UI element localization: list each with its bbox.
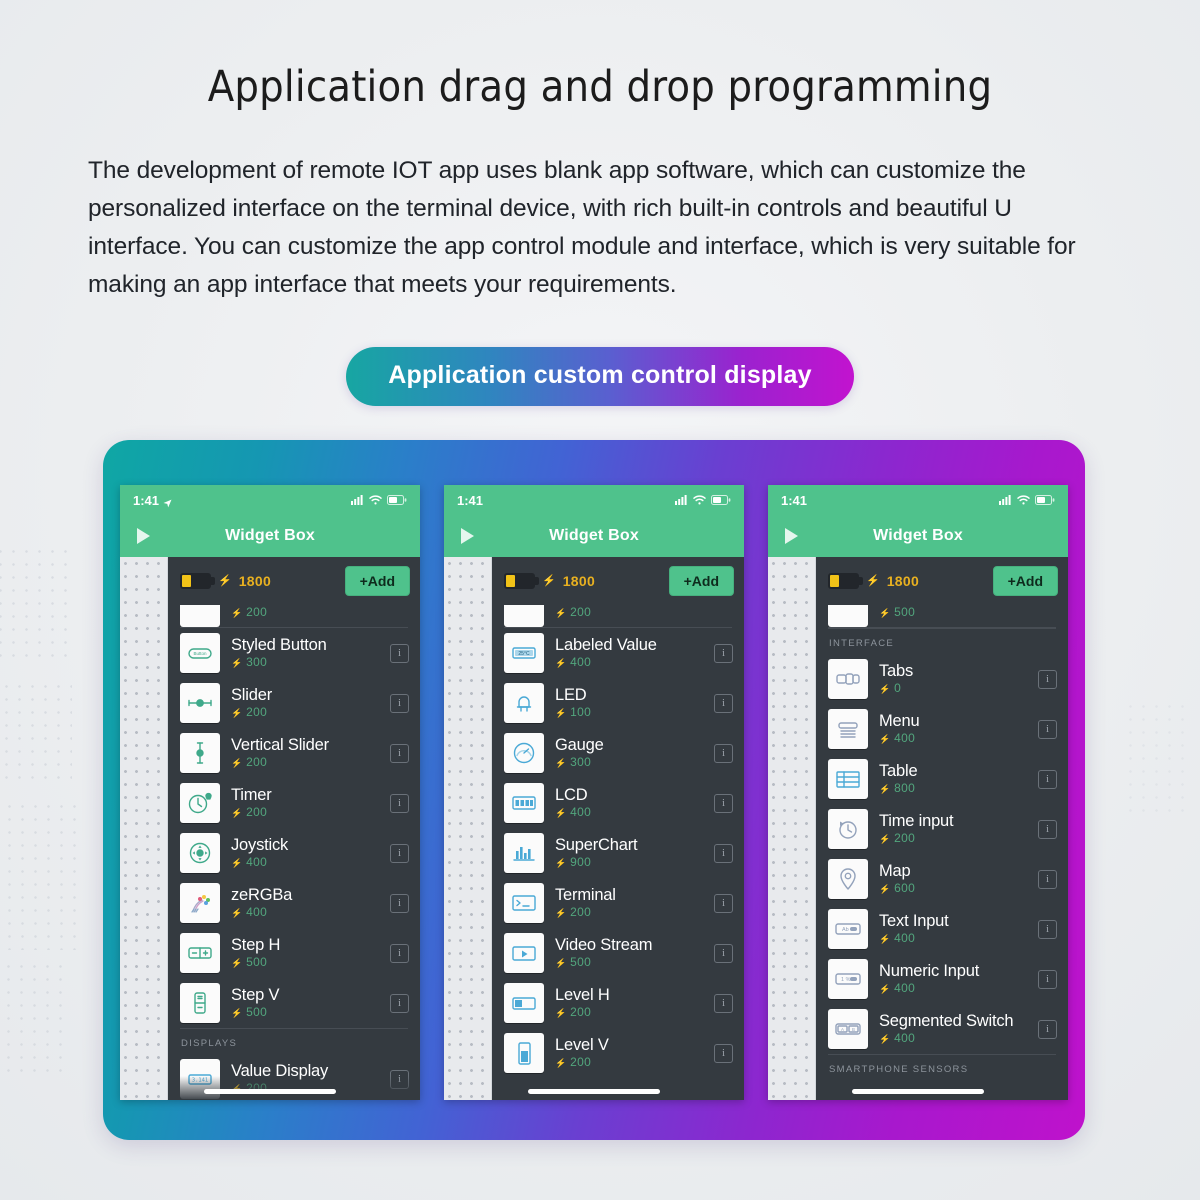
widget-row-text: Styled Button⚡ 300: [231, 635, 379, 671]
svg-text:B: B: [852, 1027, 855, 1032]
step-v-icon: [180, 983, 220, 1023]
widget-name: zeRGBa: [231, 885, 379, 905]
energy-bolt-icon: ⚡: [231, 958, 243, 968]
widget-row-text: Vertical Slider⚡ 200: [231, 735, 379, 771]
location-arrow-icon: [163, 496, 172, 505]
widget-row-text: Step H⚡ 500: [231, 935, 379, 971]
widget-row[interactable]: Level V⚡ 200i: [492, 1028, 744, 1078]
widget-row-text: zeRGBa⚡ 400: [231, 885, 379, 921]
page-title: Application drag and drop programming: [0, 62, 1200, 112]
widget-name: Slider: [231, 685, 379, 705]
widget-name: LCD: [555, 785, 703, 805]
widget-info-button[interactable]: i: [714, 994, 733, 1013]
widget-row[interactable]: Terminal⚡ 200i: [492, 878, 744, 928]
widget-name: Vertical Slider: [231, 735, 379, 755]
widget-row-text: Terminal⚡ 200: [555, 885, 703, 921]
widget-info-button[interactable]: i: [1038, 720, 1057, 739]
status-bar: 1:41: [444, 485, 744, 515]
wifi-icon: [693, 493, 706, 508]
widget-info-button[interactable]: i: [390, 744, 409, 763]
widget-row-text: Labeled Value⚡ 400: [555, 635, 703, 671]
widget-thumb-partial: [504, 605, 544, 627]
widget-row[interactable]: Step H⚡ 500i: [168, 928, 420, 978]
widget-cost: ⚡ 200: [555, 1055, 703, 1071]
widget-row-text: Joystick⚡ 400: [231, 835, 379, 871]
status-time: 1:41: [133, 493, 172, 508]
widget-row-text: Text Input⚡ 400: [879, 911, 1027, 947]
svg-text:25°C: 25°C: [518, 651, 530, 657]
widget-cost: ⚡ 400: [555, 655, 703, 671]
phone-mockup-2: 1:41Widget Box⚡1800+Add⚡ 20025°CLabeled …: [444, 485, 744, 1100]
widget-info-button[interactable]: i: [1038, 920, 1057, 939]
widget-name: LED: [555, 685, 703, 705]
widget-row[interactable]: Timer⚡ 200i: [168, 778, 420, 828]
widget-row-text: Level V⚡ 200: [555, 1035, 703, 1071]
phone-gallery: 1:41Widget Box⚡1800+Add⚡ 200ButtonStyled…: [103, 485, 1085, 1100]
widget-row-text: Timer⚡ 200: [231, 785, 379, 821]
widget-name: Gauge: [555, 735, 703, 755]
energy-bolt-icon: ⚡: [879, 608, 891, 618]
level-h-icon: [504, 983, 544, 1023]
phone-mockup-1: 1:41Widget Box⚡1800+Add⚡ 200ButtonStyled…: [120, 485, 420, 1100]
cellular-signal-icon: [675, 493, 688, 508]
widget-cost: ⚡ 200: [231, 755, 379, 771]
energy-bolt-icon: ⚡: [231, 608, 243, 618]
widget-name: SuperChart: [555, 835, 703, 855]
widget-row-text: Level H⚡ 200: [555, 985, 703, 1021]
level-v-icon: [504, 1033, 544, 1073]
widget-cost: ⚡ 400: [555, 805, 703, 821]
widget-row-text: Segmented Switch⚡ 400: [879, 1011, 1027, 1047]
widget-cost: ⚡ 500: [879, 605, 1057, 621]
energy-bolt-icon: ⚡: [555, 1058, 567, 1068]
list-bottom-fade: [492, 1076, 744, 1100]
energy-bolt-icon: ⚡: [879, 734, 891, 744]
widget-cost: ⚡ 400: [231, 905, 379, 921]
widget-name: Value Display: [231, 1061, 379, 1081]
widget-cost: ⚡ 400: [879, 731, 1027, 747]
energy-bolt-icon: ⚡: [555, 758, 567, 768]
widget-row[interactable]: ButtonStyled Button⚡ 300i: [168, 628, 420, 678]
widget-cost-value: 500: [570, 955, 591, 969]
widget-cost: ⚡ 400: [231, 855, 379, 871]
widget-name: Labeled Value: [555, 635, 703, 655]
widget-name: Level H: [555, 985, 703, 1005]
widget-cost-value: 400: [570, 805, 591, 819]
widget-cost-value: 400: [894, 931, 915, 945]
widget-info-button[interactable]: i: [714, 694, 733, 713]
energy-bolt-icon: ⚡: [231, 708, 243, 718]
energy-bolt-icon: ⚡: [555, 908, 567, 918]
widget-row[interactable]: SuperChart⚡ 900i: [492, 828, 744, 878]
background-dot-pattern: [0, 680, 72, 780]
energy-battery-icon: [828, 573, 859, 589]
widget-name: Text Input: [879, 911, 1027, 931]
widget-cost: ⚡ 300: [555, 755, 703, 771]
widget-row-text: Tabs⚡ 0: [879, 661, 1027, 697]
energy-battery-icon: [504, 573, 535, 589]
widget-thumb-partial: [828, 605, 868, 627]
widget-row-text: ⚡ 200: [555, 605, 733, 621]
widget-cost-value: 200: [570, 1005, 591, 1019]
gauge-icon: [504, 733, 544, 773]
add-energy-button[interactable]: +Add: [669, 566, 734, 596]
dotted-rail: [120, 557, 168, 1100]
energy-bolt-icon: ⚡: [879, 884, 891, 894]
widget-name: Menu: [879, 711, 1027, 731]
widget-name: Terminal: [555, 885, 703, 905]
widget-row-text: Step V⚡ 500: [231, 985, 379, 1021]
lcd-icon: [504, 783, 544, 823]
energy-bolt-icon: ⚡: [218, 576, 232, 587]
widget-info-button[interactable]: i: [714, 894, 733, 913]
wifi-icon: [369, 493, 382, 508]
energy-bolt-icon: ⚡: [555, 708, 567, 718]
energy-bolt-icon: ⚡: [866, 576, 880, 587]
add-energy-button[interactable]: +Add: [345, 566, 410, 596]
widget-cost-value: 200: [246, 805, 267, 819]
energy-bolt-icon: ⚡: [555, 808, 567, 818]
widget-row-partial[interactable]: ⚡ 200: [168, 605, 420, 627]
nav-title: Widget Box: [768, 527, 1068, 545]
widget-cost: ⚡ 200: [231, 605, 409, 621]
widget-cost: ⚡ 400: [879, 981, 1027, 997]
energy-bolt-icon: ⚡: [555, 858, 567, 868]
widget-row-text: Map⚡ 600: [879, 861, 1027, 897]
widget-cost-value: 200: [246, 705, 267, 719]
widget-cost: ⚡ 400: [879, 931, 1027, 947]
widget-cost: ⚡ 900: [555, 855, 703, 871]
home-indicator: [204, 1089, 336, 1094]
map-icon: [828, 859, 868, 899]
energy-bolt-icon: ⚡: [231, 858, 243, 868]
widget-row-partial[interactable]: ⚡ 200: [492, 605, 744, 627]
widget-row-text: Table⚡ 800: [879, 761, 1027, 797]
energy-bolt-icon: ⚡: [879, 684, 891, 694]
nav-title: Widget Box: [444, 527, 744, 545]
widget-info-button[interactable]: i: [1038, 870, 1057, 889]
widget-cost: ⚡ 200: [555, 605, 733, 621]
widget-row-text: Slider⚡ 200: [231, 685, 379, 721]
widget-cost: ⚡ 400: [879, 1031, 1027, 1047]
vertical-slider-icon: [180, 733, 220, 773]
energy-bolt-icon: ⚡: [542, 576, 556, 587]
widget-row[interactable]: LED⚡ 100i: [492, 678, 744, 728]
widget-row[interactable]: 1 %Numeric Input⚡ 400i: [816, 954, 1068, 1004]
widget-name: Step H: [231, 935, 379, 955]
timer-icon: [180, 783, 220, 823]
energy-bolt-icon: ⚡: [879, 784, 891, 794]
widget-row[interactable]: LCD⚡ 400i: [492, 778, 744, 828]
widget-cost-value: 400: [246, 905, 267, 919]
widget-row-text: Gauge⚡ 300: [555, 735, 703, 771]
widget-row-text: SuperChart⚡ 900: [555, 835, 703, 871]
showcase-card: 1:41Widget Box⚡1800+Add⚡ 200ButtonStyled…: [103, 440, 1085, 1140]
nav-bar: Widget Box: [120, 515, 420, 557]
intro-paragraph: The development of remote IOT app uses b…: [88, 152, 1114, 304]
widget-list: INTERFACETabs⚡ 0iMenu⚡ 400iTable⚡ 800iTi…: [816, 628, 1068, 1080]
widget-cost-value: 100: [570, 705, 591, 719]
widget-row-partial[interactable]: ⚡ 500: [816, 605, 1068, 627]
text-input-icon: Ab: [828, 909, 868, 949]
menu-icon: [828, 709, 868, 749]
widget-cost: ⚡ 500: [231, 1005, 379, 1021]
nav-title: Widget Box: [120, 527, 420, 545]
section-label: INTERFACE: [816, 629, 1068, 654]
widget-row-text: ⚡ 200: [231, 605, 409, 621]
joystick-icon: [180, 833, 220, 873]
widget-info-button[interactable]: i: [1038, 770, 1057, 789]
background-dot-pattern: [0, 800, 76, 950]
widget-name: Time input: [879, 811, 1027, 831]
superchart-icon: [504, 833, 544, 873]
step-h-icon: [180, 933, 220, 973]
status-indicators: [351, 493, 407, 508]
widget-cost-value: 300: [570, 755, 591, 769]
widget-box-screen: ⚡1800+Add⚡ 500INTERFACETabs⚡ 0iMenu⚡ 400…: [816, 557, 1068, 1100]
background-dot-pattern: [0, 545, 72, 665]
widget-box-screen: ⚡1800+Add⚡ 200ButtonStyled Button⚡ 300iS…: [168, 557, 420, 1100]
widget-cost-value: 900: [570, 855, 591, 869]
widget-cost-value: 300: [246, 655, 267, 669]
widget-cost-value: 200: [570, 1055, 591, 1069]
status-bar: 1:41: [120, 485, 420, 515]
cellular-signal-icon: [999, 493, 1012, 508]
widget-info-button[interactable]: i: [390, 694, 409, 713]
energy-bolt-icon: ⚡: [555, 658, 567, 668]
nav-bar: Widget Box: [444, 515, 744, 557]
widget-name: Map: [879, 861, 1027, 881]
nav-bar: Widget Box: [768, 515, 1068, 557]
widget-cost-value: 500: [246, 1005, 267, 1019]
widget-info-button[interactable]: i: [1038, 970, 1057, 989]
styled-button-icon: Button: [180, 633, 220, 673]
svg-text:1 %: 1 %: [841, 977, 851, 983]
energy-bolt-icon: ⚡: [879, 834, 891, 844]
widget-cost-value: 200: [570, 905, 591, 919]
widget-row[interactable]: Slider⚡ 200i: [168, 678, 420, 728]
svg-text:Ab: Ab: [842, 927, 849, 933]
widget-name: Timer: [231, 785, 379, 805]
widget-cost-value: 400: [894, 981, 915, 995]
widget-row[interactable]: zeRGBa⚡ 400i: [168, 878, 420, 928]
status-time: 1:41: [457, 493, 483, 508]
widget-row[interactable]: Map⚡ 600i: [816, 854, 1068, 904]
widget-row[interactable]: Step V⚡ 500i: [168, 978, 420, 1028]
phone-mockup-3: 1:41Widget Box⚡1800+Add⚡ 500INTERFACETab…: [768, 485, 1068, 1100]
widget-info-button[interactable]: i: [390, 644, 409, 663]
table-icon: [828, 759, 868, 799]
widget-name: Styled Button: [231, 635, 379, 655]
widget-thumb-partial: [180, 605, 220, 627]
widget-cost-value: 400: [246, 855, 267, 869]
cellular-signal-icon: [351, 493, 364, 508]
widget-cost: ⚡ 0: [879, 681, 1027, 697]
widget-cost: ⚡ 200: [555, 905, 703, 921]
section-banner: Application custom control display: [0, 347, 1200, 406]
widget-cost-value: 200: [246, 755, 267, 769]
widget-box-screen: ⚡1800+Add⚡ 20025°CLabeled Value⚡ 400iLED…: [492, 557, 744, 1100]
widget-row[interactable]: Gauge⚡ 300i: [492, 728, 744, 778]
widget-info-button[interactable]: i: [1038, 1020, 1057, 1039]
widget-row-text: ⚡ 500: [879, 605, 1057, 621]
widget-cost-value: 200: [894, 831, 915, 845]
energy-bolt-icon: ⚡: [879, 1034, 891, 1044]
widget-row[interactable]: Menu⚡ 400i: [816, 704, 1068, 754]
widget-cost: ⚡ 200: [231, 705, 379, 721]
widget-info-button[interactable]: i: [714, 844, 733, 863]
energy-bolt-icon: ⚡: [231, 808, 243, 818]
energy-bolt-icon: ⚡: [555, 958, 567, 968]
widget-row-text: LCD⚡ 400: [555, 785, 703, 821]
widget-cost: ⚡ 100: [555, 705, 703, 721]
tabs-icon: [828, 659, 868, 699]
widget-cost-value: 200: [246, 605, 267, 619]
zergba-icon: [180, 883, 220, 923]
page-root: Application drag and drop programming Th…: [0, 0, 1200, 1200]
intro-paragraph-text: The development of remote IOT app uses b…: [88, 152, 1114, 304]
background-dot-pattern: [2, 960, 62, 1080]
energy-bolt-icon: ⚡: [231, 908, 243, 918]
labeled-value-icon: 25°C: [504, 633, 544, 673]
status-bar: 1:41: [768, 485, 1068, 515]
widget-name: Numeric Input: [879, 961, 1027, 981]
section-label: DISPLAYS: [168, 1029, 420, 1054]
status-indicators: [999, 493, 1055, 508]
svg-text:A: A: [841, 1027, 844, 1032]
widget-cost: ⚡ 800: [879, 781, 1027, 797]
widget-cost-value: 400: [570, 655, 591, 669]
widget-cost: ⚡ 500: [555, 955, 703, 971]
widget-row-text: Menu⚡ 400: [879, 711, 1027, 747]
widget-info-button[interactable]: i: [714, 644, 733, 663]
widget-name: Segmented Switch: [879, 1011, 1027, 1031]
energy-value: 1800: [887, 573, 919, 589]
widget-list: 25°CLabeled Value⚡ 400iLED⚡ 100iGauge⚡ 3…: [492, 628, 744, 1078]
widget-row[interactable]: Level H⚡ 200i: [492, 978, 744, 1028]
widget-row[interactable]: Video Stream⚡ 500i: [492, 928, 744, 978]
dotted-rail: [768, 557, 816, 1100]
time-input-icon: [828, 809, 868, 849]
widget-cost-value: 400: [894, 731, 915, 745]
widget-info-button[interactable]: i: [1038, 820, 1057, 839]
widget-cost-value: 500: [894, 605, 915, 619]
widget-name: Video Stream: [555, 935, 703, 955]
energy-bolt-icon: ⚡: [555, 1008, 567, 1018]
energy-bolt-icon: ⚡: [231, 758, 243, 768]
energy-bolt-icon: ⚡: [555, 608, 567, 618]
energy-value: 1800: [563, 573, 595, 589]
footer-section-label: SMARTPHONE SENSORS: [816, 1055, 1068, 1080]
widget-row[interactable]: 25°CLabeled Value⚡ 400i: [492, 628, 744, 678]
widget-row[interactable]: Table⚡ 800i: [816, 754, 1068, 804]
home-indicator: [528, 1089, 660, 1094]
energy-header: ⚡1800+Add: [492, 557, 744, 605]
widget-info-button[interactable]: i: [714, 794, 733, 813]
widget-name: Joystick: [231, 835, 379, 855]
widget-cost-value: 200: [570, 605, 591, 619]
wifi-icon: [1017, 493, 1030, 508]
energy-bolt-icon: ⚡: [231, 658, 243, 668]
status-indicators: [675, 493, 731, 508]
widget-row-text: Numeric Input⚡ 400: [879, 961, 1027, 997]
svg-text:3.141: 3.141: [192, 1077, 208, 1083]
slider-icon: [180, 683, 220, 723]
widget-info-button[interactable]: i: [1038, 670, 1057, 689]
energy-battery-icon: [180, 573, 211, 589]
widget-info-button[interactable]: i: [714, 744, 733, 763]
widget-list: ButtonStyled Button⚡ 300iSlider⚡ 200iVer…: [168, 628, 420, 1100]
widget-row[interactable]: Time input⚡ 200i: [816, 804, 1068, 854]
widget-name: Table: [879, 761, 1027, 781]
widget-info-button[interactable]: i: [714, 1044, 733, 1063]
widget-name: Step V: [231, 985, 379, 1005]
segmented-switch-icon: AB: [828, 1009, 868, 1049]
dotted-rail: [444, 557, 492, 1100]
widget-cost-value: 400: [894, 1031, 915, 1045]
add-energy-button[interactable]: +Add: [993, 566, 1058, 596]
widget-cost: ⚡ 500: [231, 955, 379, 971]
energy-header: ⚡1800+Add: [168, 557, 420, 605]
widget-cost-value: 800: [894, 781, 915, 795]
energy-header: ⚡1800+Add: [816, 557, 1068, 605]
widget-row[interactable]: Tabs⚡ 0i: [816, 654, 1068, 704]
widget-info-button[interactable]: i: [390, 794, 409, 813]
terminal-icon: [504, 883, 544, 923]
energy-bolt-icon: ⚡: [879, 984, 891, 994]
widget-info-button[interactable]: i: [714, 944, 733, 963]
widget-cost-value: 0: [894, 681, 901, 695]
energy-bolt-icon: ⚡: [231, 1008, 243, 1018]
widget-row[interactable]: AbText Input⚡ 400i: [816, 904, 1068, 954]
background-dot-pattern: [1124, 700, 1194, 820]
section-banner-pill: Application custom control display: [346, 347, 854, 406]
battery-icon: [711, 493, 731, 508]
battery-icon: [1035, 493, 1055, 508]
energy-bolt-icon: ⚡: [879, 934, 891, 944]
widget-info-button[interactable]: i: [390, 894, 409, 913]
video-stream-icon: [504, 933, 544, 973]
widget-cost: ⚡ 200: [879, 831, 1027, 847]
widget-row-text: LED⚡ 100: [555, 685, 703, 721]
widget-row[interactable]: Vertical Slider⚡ 200i: [168, 728, 420, 778]
svg-text:Button: Button: [193, 651, 207, 656]
widget-name: Tabs: [879, 661, 1027, 681]
widget-info-button[interactable]: i: [390, 944, 409, 963]
widget-cost: ⚡ 600: [879, 881, 1027, 897]
numeric-input-icon: 1 %: [828, 959, 868, 999]
widget-row-text: Video Stream⚡ 500: [555, 935, 703, 971]
widget-cost-value: 600: [894, 881, 915, 895]
widget-cost: ⚡ 200: [231, 805, 379, 821]
led-icon: [504, 683, 544, 723]
home-indicator: [852, 1089, 984, 1094]
widget-row-text: Time input⚡ 200: [879, 811, 1027, 847]
widget-cost-value: 500: [246, 955, 267, 969]
widget-info-button[interactable]: i: [390, 1070, 409, 1089]
widget-row[interactable]: ABSegmented Switch⚡ 400i: [816, 1004, 1068, 1054]
energy-value: 1800: [239, 573, 271, 589]
battery-icon: [387, 493, 407, 508]
widget-info-button[interactable]: i: [390, 994, 409, 1013]
widget-info-button[interactable]: i: [390, 844, 409, 863]
widget-cost: ⚡ 300: [231, 655, 379, 671]
status-time: 1:41: [781, 493, 807, 508]
widget-name: Level V: [555, 1035, 703, 1055]
widget-row[interactable]: Joystick⚡ 400i: [168, 828, 420, 878]
widget-cost: ⚡ 200: [555, 1005, 703, 1021]
